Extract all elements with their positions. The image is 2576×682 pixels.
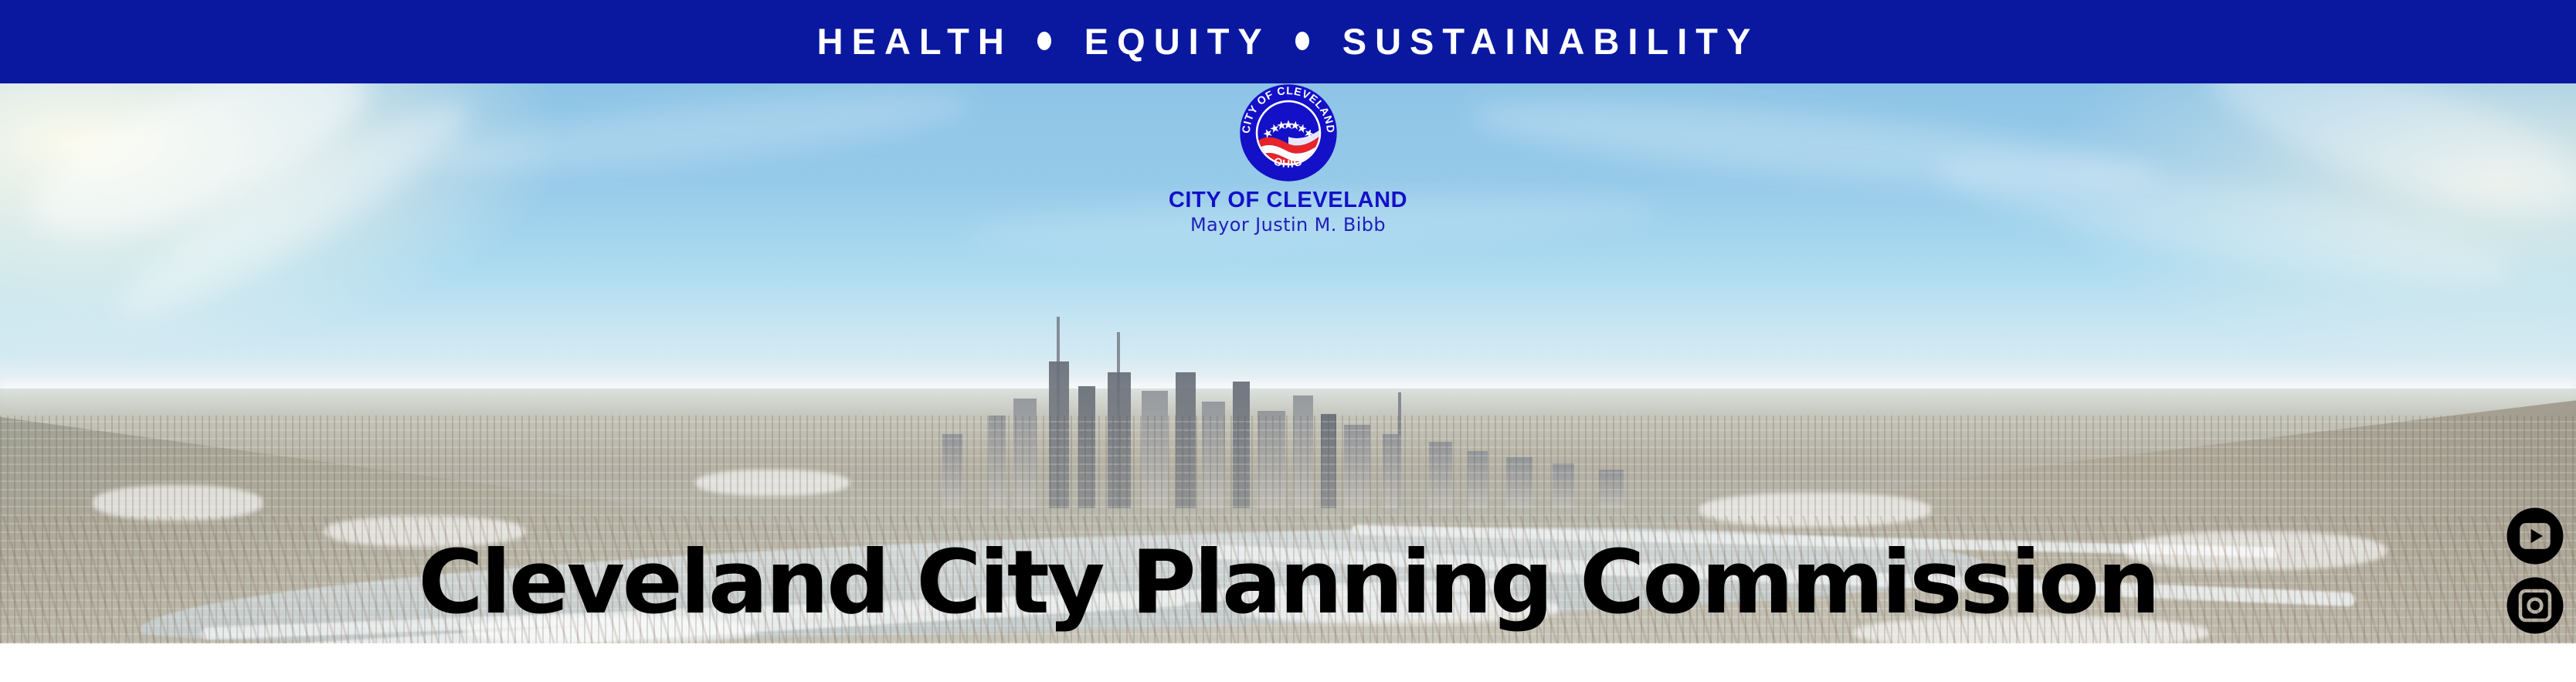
logo-organization-name: CITY OF CLEVELAND: [1088, 188, 1489, 212]
tagline-separator-dot-1: [1037, 32, 1051, 50]
page-title: Cleveland City Planning Commission: [0, 539, 2576, 626]
social-link-instagram[interactable]: [2506, 576, 2564, 635]
social-link-youtube[interactable]: [2506, 507, 2564, 565]
page-bottom-strip: [0, 643, 2576, 682]
tagline-word-health: HEALTH: [817, 23, 1013, 59]
page-root: HEALTH EQUITY SUSTAINABILITY: [0, 0, 2576, 682]
logo-mayor-name: Mayor Justin M. Bibb: [1088, 215, 1489, 235]
social-media-rail: [2499, 507, 2571, 643]
tagline-banner-inner: HEALTH EQUITY SUSTAINABILITY: [817, 23, 1760, 59]
instagram-icon: [2506, 576, 2564, 635]
tagline-banner: HEALTH EQUITY SUSTAINABILITY: [0, 0, 2576, 83]
youtube-icon: [2506, 507, 2564, 565]
hero-banner-image: CITY OF CLEVELAND OHIO CITY OF CLEVELAND…: [0, 83, 2576, 643]
tagline-separator-dot-2: [1295, 32, 1309, 50]
city-logo-block[interactable]: CITY OF CLEVELAND OHIO CITY OF CLEVELAND…: [1088, 83, 1489, 236]
tagline-word-sustainability: SUSTAINABILITY: [1342, 23, 1760, 59]
tagline-word-equity: EQUITY: [1084, 23, 1271, 59]
city-of-cleveland-seal-icon: CITY OF CLEVELAND OHIO: [1239, 83, 1338, 182]
